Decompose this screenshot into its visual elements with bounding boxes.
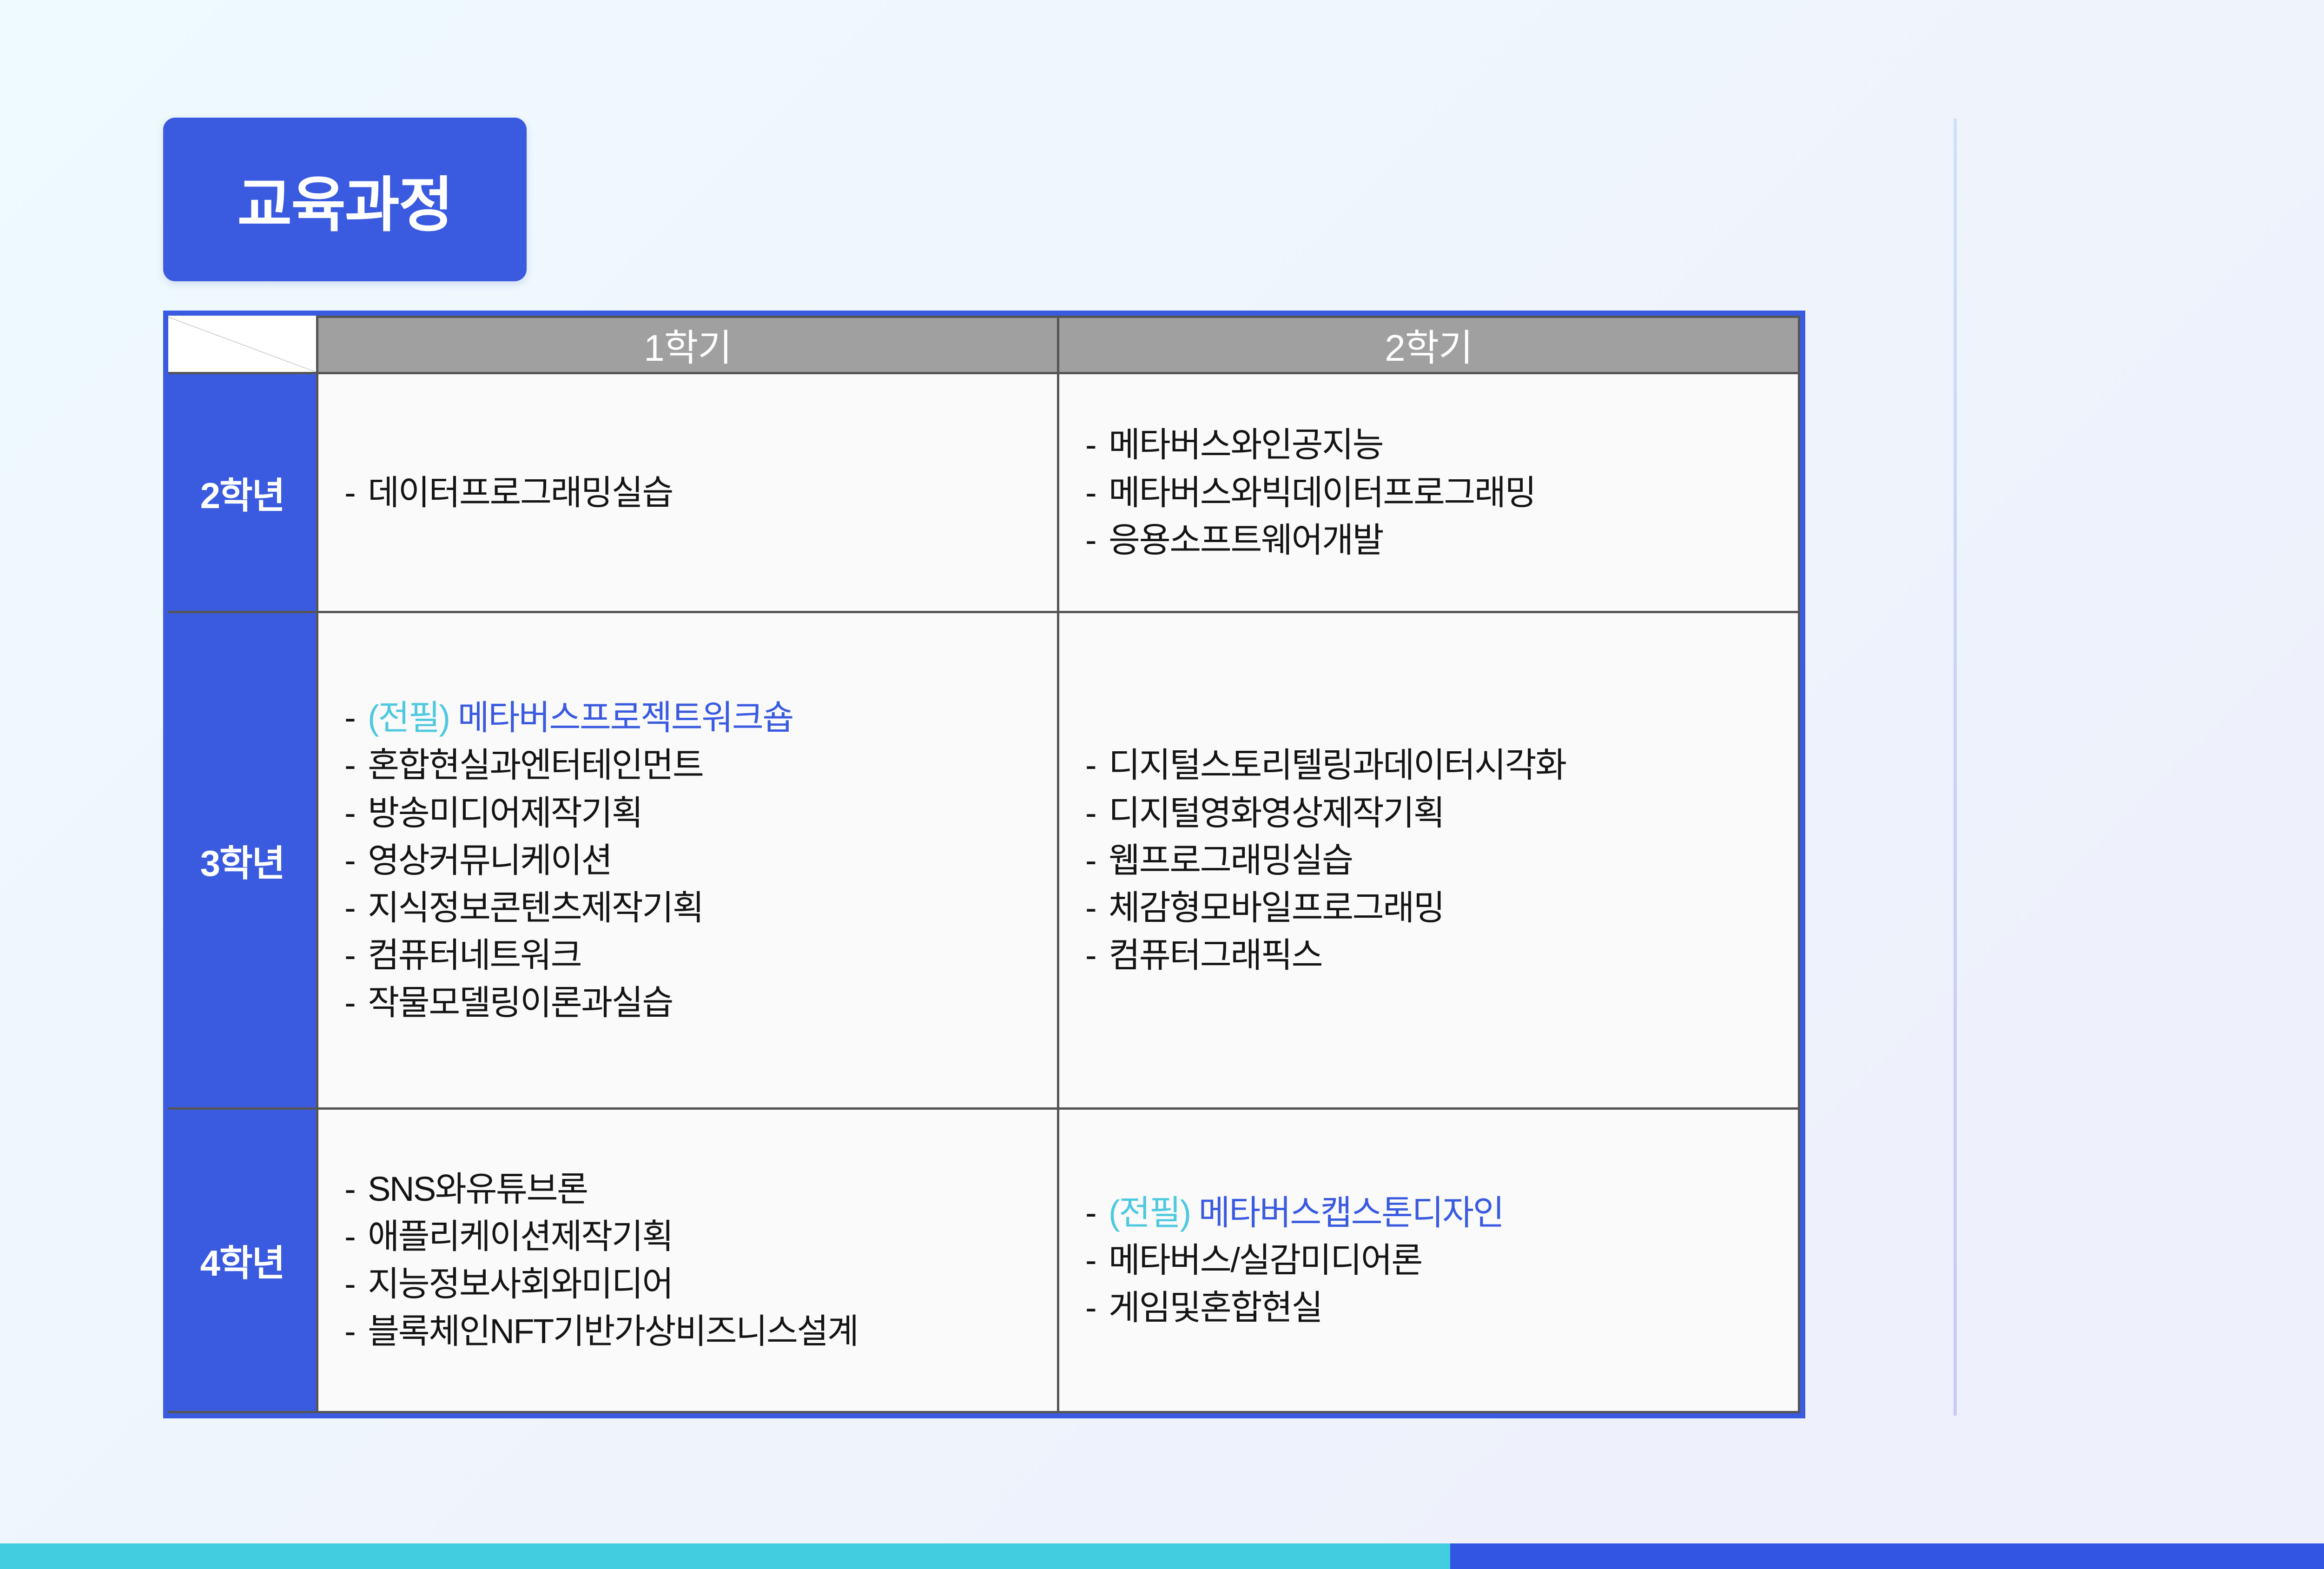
bullet-dash-icon: - (1085, 421, 1109, 469)
column-header-semester-1: 1학기 (317, 317, 1058, 373)
course-item: -(전필) 메타버스캡스톤디자인 (1085, 1189, 1777, 1237)
diagonal-line-icon (168, 317, 316, 372)
course-item: -디지털영화영상제작기획 (1085, 789, 1777, 837)
course-name: 디지털스토리텔링과데이터시각화 (1109, 746, 1566, 784)
cell-year4-semester1: -SNS와유튜브론-애플리케이션제작기획-지능정보사회와미디어-블록체인NFT기… (317, 1109, 1058, 1412)
course-name: 메타버스프로젝트워크숍 (458, 698, 793, 737)
course-name: 영상커뮤니케이션 (368, 841, 612, 880)
course-name: 웹프로그래밍실습 (1109, 841, 1353, 880)
course-list: -디지털스토리텔링과데이터시각화-디지털영화영상제작기획-웹프로그래밍실습-체감… (1085, 741, 1777, 979)
course-name: 컴퓨터그래픽스 (1109, 936, 1322, 974)
course-item: -웹프로그래밍실습 (1085, 837, 1777, 884)
cell-year2-semester2: -메타버스와인공지능-메타버스와빅데이터프로그래밍-응용소프트웨어개발 (1058, 373, 1799, 612)
course-name: 디지털영화영상제작기획 (1109, 794, 1444, 832)
course-item: -영상커뮤니케이션 (344, 837, 1037, 884)
table-row: 3학년 -(전필) 메타버스프로젝트워크숍-혼합현실과엔터테인먼트-방송미디어제… (168, 612, 1799, 1109)
course-name: 메타버스와빅데이터프로그래밍 (1109, 473, 1535, 512)
bullet-dash-icon: - (344, 1165, 368, 1213)
bullet-dash-icon: - (1085, 741, 1109, 789)
globe-layers-illustration (2296, 70, 2324, 391)
course-name: 지식정보콘텐츠제작기획 (368, 888, 703, 927)
bullet-dash-icon: - (344, 694, 368, 741)
course-required-tag: (전필) (1109, 1193, 1199, 1232)
course-item: -SNS와유튜브론 (344, 1165, 1037, 1213)
course-item: -게임및혼합현실 (1085, 1284, 1777, 1331)
bullet-dash-icon: - (1085, 469, 1109, 516)
badge-label: 교육과정 (237, 157, 452, 243)
table-header-row: 1학기 2학기 (168, 317, 1799, 373)
bullet-dash-icon: - (344, 1260, 368, 1308)
bottom-accent-bar (0, 1543, 2324, 1569)
course-item: -혼합현실과엔터테인먼트 (344, 741, 1037, 789)
course-list: -(전필) 메타버스프로젝트워크숍-혼합현실과엔터테인먼트-방송미디어제작기획-… (344, 694, 1037, 1026)
curriculum-table: 1학기 2학기 2학년 -데이터프로그래밍실습 -메타버스와인공지능-메타버스와… (168, 316, 1800, 1413)
course-item: -컴퓨터네트워크 (344, 932, 1037, 979)
cell-year3-semester2: -디지털스토리텔링과데이터시각화-디지털영화영상제작기획-웹프로그래밍실습-체감… (1058, 612, 1799, 1109)
bullet-dash-icon: - (344, 837, 368, 884)
course-name: 게임및혼합현실 (1109, 1288, 1322, 1327)
table-header: 1학기 2학기 (168, 317, 1799, 373)
course-list: -데이터프로그래밍실습 (344, 469, 1037, 516)
bullet-dash-icon: - (1085, 516, 1109, 564)
course-name: 지능정보사회와미디어 (368, 1264, 673, 1303)
course-list: -메타버스와인공지능-메타버스와빅데이터프로그래밍-응용소프트웨어개발 (1085, 421, 1777, 563)
curriculum-table-container: 1학기 2학기 2학년 -데이터프로그래밍실습 -메타버스와인공지능-메타버스와… (163, 311, 1805, 1418)
cell-year2-semester1: -데이터프로그래밍실습 (317, 373, 1058, 612)
course-name: 데이터프로그래밍실습 (368, 473, 673, 512)
course-name: 작물모델링이론과실습 (368, 983, 673, 1022)
row-label-year-3: 3학년 (168, 612, 317, 1109)
row-label-year-4: 4학년 (168, 1109, 317, 1412)
bullet-dash-icon: - (1085, 1284, 1109, 1331)
bullet-dash-icon: - (344, 469, 368, 516)
course-item: -작물모델링이론과실습 (344, 979, 1037, 1026)
course-name: 메타버스/실감미디어론 (1109, 1241, 1422, 1279)
course-name: 블록체인NFT기반가상비즈니스설계 (368, 1312, 858, 1351)
bullet-dash-icon: - (344, 789, 368, 837)
course-list: -(전필) 메타버스캡스톤디자인-메타버스/실감미디어론-게임및혼합현실 (1085, 1189, 1777, 1331)
course-name: 메타버스와인공지능 (1109, 425, 1383, 464)
bullet-dash-icon: - (1085, 1237, 1109, 1284)
course-name: 애플리케이션제작기획 (368, 1217, 673, 1256)
course-name: 컴퓨터네트워크 (368, 936, 581, 974)
course-name: 혼합현실과엔터테인먼트 (368, 746, 703, 784)
bullet-dash-icon: - (1085, 884, 1109, 932)
bottom-bar-cyan-segment (0, 1543, 1450, 1569)
bullet-dash-icon: - (1085, 837, 1109, 884)
bullet-dash-icon: - (344, 1308, 368, 1355)
course-item: -방송미디어제작기획 (344, 789, 1037, 837)
column-header-semester-2: 2학기 (1058, 317, 1799, 373)
course-item: -(전필) 메타버스프로젝트워크숍 (344, 694, 1037, 741)
course-item: -데이터프로그래밍실습 (344, 469, 1037, 516)
bottom-bar-blue-segment (1450, 1543, 2324, 1569)
course-item: -메타버스와인공지능 (1085, 421, 1777, 469)
course-item: -애플리케이션제작기획 (344, 1213, 1037, 1260)
course-item: -체감형모바일프로그래밍 (1085, 884, 1777, 932)
row-label-year-2: 2학년 (168, 373, 317, 612)
table-row: 2학년 -데이터프로그래밍실습 -메타버스와인공지능-메타버스와빅데이터프로그래… (168, 373, 1799, 612)
course-name: 메타버스캡스톤디자인 (1199, 1193, 1504, 1232)
corner-diagonal-cell (168, 317, 317, 373)
table-row: 4학년 -SNS와유튜브론-애플리케이션제작기획-지능정보사회와미디어-블록체인… (168, 1109, 1799, 1412)
course-item: -메타버스/실감미디어론 (1085, 1237, 1777, 1284)
bullet-dash-icon: - (344, 1213, 368, 1260)
bullet-dash-icon: - (1085, 932, 1109, 979)
course-item: -지식정보콘텐츠제작기획 (344, 884, 1037, 932)
course-item: -응용소프트웨어개발 (1085, 516, 1777, 564)
cell-year3-semester1: -(전필) 메타버스프로젝트워크숍-혼합현실과엔터테인먼트-방송미디어제작기획-… (317, 612, 1058, 1109)
bullet-dash-icon: - (1085, 1189, 1109, 1237)
course-name: 방송미디어제작기획 (368, 794, 642, 832)
bullet-dash-icon: - (344, 884, 368, 932)
cell-year4-semester2: -(전필) 메타버스캡스톤디자인-메타버스/실감미디어론-게임및혼합현실 (1058, 1109, 1799, 1412)
vertical-divider (1954, 119, 1957, 1416)
course-list: -SNS와유튜브론-애플리케이션제작기획-지능정보사회와미디어-블록체인NFT기… (344, 1165, 1037, 1355)
bullet-dash-icon: - (344, 741, 368, 789)
bullet-dash-icon: - (1085, 789, 1109, 837)
course-item: -메타버스와빅데이터프로그래밍 (1085, 469, 1777, 516)
course-item: -블록체인NFT기반가상비즈니스설계 (344, 1308, 1037, 1355)
right-panel: 전공 교육과정 메타버스/엔터테인먼트 융합전공 커리큘럼 (2045, 70, 2324, 1092)
bullet-dash-icon: - (344, 979, 368, 1026)
course-name: 체감형모바일프로그래밍 (1109, 888, 1444, 927)
course-required-tag: (전필) (368, 698, 458, 737)
course-item: -지능정보사회와미디어 (344, 1260, 1037, 1308)
course-item: -디지털스토리텔링과데이터시각화 (1085, 741, 1777, 789)
table-body: 2학년 -데이터프로그래밍실습 -메타버스와인공지능-메타버스와빅데이터프로그래… (168, 373, 1799, 1412)
course-name: 응용소프트웨어개발 (1109, 521, 1383, 559)
bullet-dash-icon: - (344, 932, 368, 979)
course-name: SNS와유튜브론 (368, 1170, 588, 1208)
curriculum-badge: 교육과정 (163, 118, 527, 281)
course-item: -컴퓨터그래픽스 (1085, 932, 1777, 979)
